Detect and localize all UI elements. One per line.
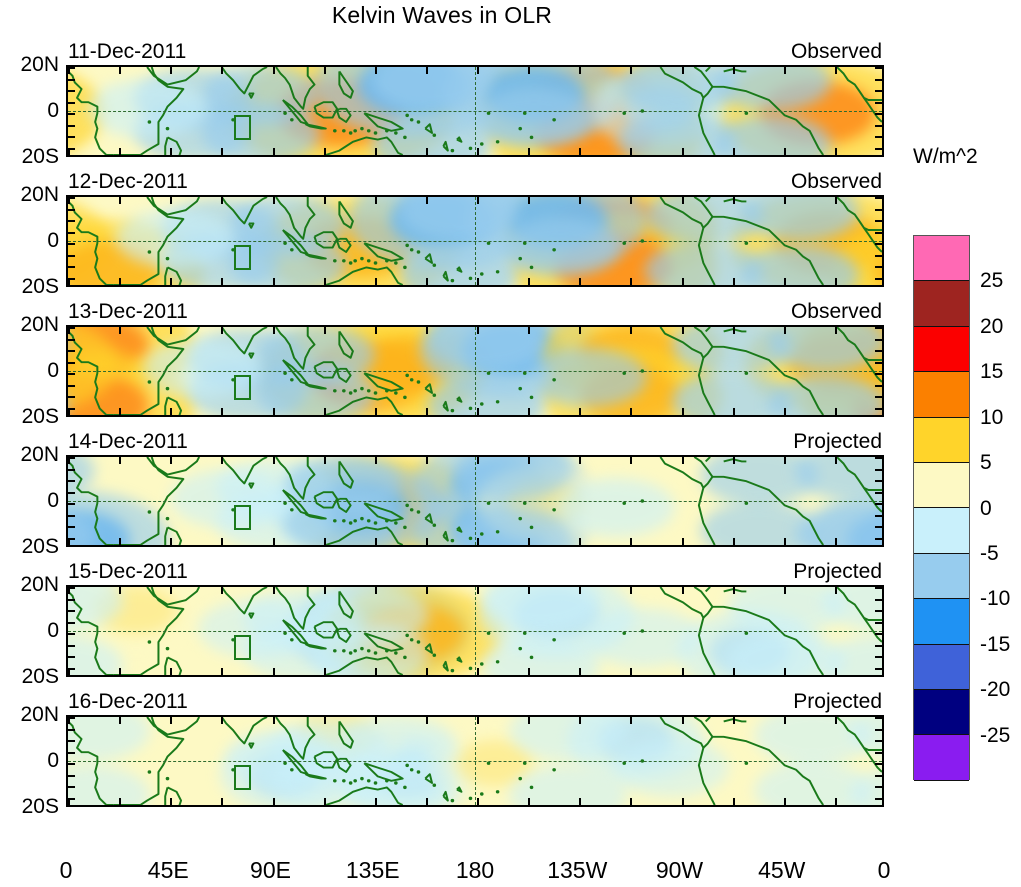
axis-tick [375,668,377,675]
axis-tick [324,148,326,155]
axis-tick [875,610,882,612]
axis-tick [875,102,882,104]
axis-tick [273,668,275,675]
axis-tick [528,327,530,334]
axis-tick [528,197,530,204]
axis-tick [477,327,479,334]
axis-tick [324,457,326,464]
y-axis-tick-label: 20S [22,275,59,299]
reference-box-marker [234,115,252,140]
axis-tick [375,278,377,285]
axis-tick [835,798,837,805]
axis-tick [682,587,684,594]
axis-tick [68,457,75,459]
axis-tick [221,457,223,464]
axis-tick [733,538,735,545]
axis-tick [119,278,121,285]
axis-tick [324,587,326,594]
x-axis-tick-label: 45W [758,857,805,884]
axis-tick [875,752,882,754]
axis-tick [221,148,223,155]
axis-tick [579,148,581,155]
axis-tick [324,278,326,285]
axis-tick [875,350,882,352]
axis-tick [221,668,223,675]
axis-tick [784,538,786,545]
dateline-marker [475,717,476,805]
axis-tick [221,408,223,415]
axis-tick [221,327,223,334]
axis-tick [875,385,882,387]
axis-tick [273,538,275,545]
y-axis-tick-label: 0 [47,489,59,513]
map-plot-area [66,65,884,157]
panel-status-label: Observed [791,300,882,324]
y-axis-tick-label: 20S [22,535,59,559]
axis-tick [170,197,172,204]
axis-tick [119,197,121,204]
axis-tick [477,668,479,675]
axis-tick [119,457,121,464]
axis-tick [875,232,882,234]
axis-tick [784,587,786,594]
axis-tick [426,668,428,675]
axis-tick [68,538,75,540]
axis-tick [875,645,882,647]
axis-tick [426,587,428,594]
axis-tick [170,408,172,415]
axis-tick [273,798,275,805]
axis-tick [68,255,75,257]
axis-tick [324,668,326,675]
axis-tick [682,67,684,74]
axis-tick [221,278,223,285]
axis-tick [875,457,882,459]
axis-tick [579,197,581,204]
axis-tick [875,113,882,115]
y-axis-tick-label: 20N [20,313,59,337]
colorbar-band [914,735,969,780]
axis-tick [630,408,632,415]
axis-tick [835,197,837,204]
axis-tick [68,599,75,601]
axis-tick [273,327,275,334]
axis-tick [68,752,75,754]
axis-tick [875,798,882,800]
axis-tick [477,67,479,74]
colorbar-units-label: W/m^2 [913,145,1021,169]
dateline-marker [475,587,476,675]
axis-tick [170,717,172,724]
axis-tick [68,408,75,410]
axis-tick [68,148,75,150]
axis-tick [68,327,75,329]
axis-tick [875,79,882,81]
axis-tick [682,327,684,334]
y-axis-tick-label: 0 [47,99,59,123]
axis-tick [68,729,75,731]
axis-tick [170,278,172,285]
axis-tick [875,255,882,257]
axis-tick [68,339,75,341]
axis-tick [528,148,530,155]
axis-tick [273,408,275,415]
axis-tick [119,148,121,155]
axis-tick [426,538,428,545]
axis-tick [68,67,75,69]
axis-tick [784,717,786,724]
axis-tick [733,457,735,464]
axis-tick [375,538,377,545]
axis-tick [375,717,377,724]
axis-tick [579,327,581,334]
axis-tick [221,197,223,204]
y-axis-tick-label: 20N [20,703,59,727]
x-axis-tick-label: 90E [250,857,291,884]
axis-tick [682,798,684,805]
colorbar-band [914,599,969,644]
axis-tick [875,243,882,245]
axis-tick [68,492,75,494]
axis-tick [221,67,223,74]
axis-tick [875,408,882,410]
axis-tick [426,457,428,464]
axis-tick [875,266,882,268]
axis-tick [68,362,75,364]
colorbar-tick-label: -20 [980,678,1010,702]
dateline-marker [475,457,476,545]
colorbar-tick-label: 10 [980,406,1003,430]
axis-tick [733,278,735,285]
axis-tick [528,457,530,464]
axis-tick [477,148,479,155]
axis-tick [375,197,377,204]
axis-tick [477,197,479,204]
axis-tick [426,798,428,805]
panel-status-label: Projected [793,560,882,584]
colorbar-tick-label: -15 [980,633,1010,657]
axis-tick [875,717,882,719]
axis-tick [528,408,530,415]
axis-tick [835,717,837,724]
panel-date-label: 12-Dec-2011 [68,170,188,194]
axis-tick [477,278,479,285]
axis-tick [875,587,882,589]
colorbar-band [914,554,969,599]
axis-tick [375,327,377,334]
axis-tick [835,457,837,464]
axis-tick [682,668,684,675]
axis-tick [875,729,882,731]
axis-tick [875,209,882,211]
axis-tick [835,67,837,74]
axis-tick [835,538,837,545]
colorbar-tick-label: 25 [980,269,1003,293]
axis-tick [875,480,882,482]
axis-tick [528,798,530,805]
axis-tick [579,668,581,675]
map-plot-area [66,715,884,807]
axis-tick [579,587,581,594]
axis-tick [875,136,882,138]
axis-tick [875,278,882,280]
y-axis-tick-label: 20N [20,443,59,467]
axis-tick [875,362,882,364]
axis-tick [579,278,581,285]
axis-tick [170,148,172,155]
axis-tick [784,408,786,415]
axis-tick [630,538,632,545]
axis-tick [119,798,121,805]
colorbar-tick-label: -5 [980,542,999,566]
colorbar-tick-label: -10 [980,587,1010,611]
x-axis-tick-label: 135E [346,857,400,884]
axis-tick [375,798,377,805]
axis-tick [875,633,882,635]
axis-tick [579,67,581,74]
axis-tick [630,587,632,594]
axis-tick [68,645,75,647]
map-panel: 11-Dec-2011Observed20N020S [66,65,884,157]
axis-tick [221,717,223,724]
axis-tick [426,408,428,415]
axis-tick [630,327,632,334]
axis-tick [68,278,75,280]
axis-tick [875,469,882,471]
axis-tick [682,538,684,545]
dateline-marker [475,197,476,285]
axis-tick [733,148,735,155]
axis-tick [784,668,786,675]
axis-tick [875,515,882,517]
axis-tick [630,148,632,155]
colorbar-band [914,508,969,553]
axis-tick [630,798,632,805]
axis-tick [68,220,75,222]
axis-tick [68,113,75,115]
map-plot-area [66,325,884,417]
axis-tick [170,668,172,675]
axis-tick [477,457,479,464]
panel-status-label: Projected [793,690,882,714]
axis-tick [170,327,172,334]
axis-tick [875,197,882,199]
colorbar-tick-label: 20 [980,315,1003,339]
axis-tick [119,587,121,594]
axis-tick [221,798,223,805]
axis-tick [579,798,581,805]
axis-tick [68,469,75,471]
x-axis-tick-label: 0 [878,857,891,884]
map-panel: 15-Dec-2011Projected20N020S [66,585,884,677]
colorbar-tick-label: -25 [980,724,1010,748]
colorbar-band [914,281,969,326]
axis-tick [68,656,75,658]
x-axis-tick-label: 180 [456,857,494,884]
axis-tick [579,457,581,464]
axis-tick [68,385,75,387]
axis-tick [835,148,837,155]
axis-tick [875,339,882,341]
axis-tick [875,763,882,765]
axis-tick [477,717,479,724]
map-plot-area [66,455,884,547]
axis-tick [68,396,75,398]
axis-tick [68,717,75,719]
map-plot-area [66,585,884,677]
axis-tick [682,197,684,204]
y-axis-tick-label: 20S [22,665,59,689]
axis-tick [221,538,223,545]
axis-tick [875,220,882,222]
colorbar: 2520151050-5-10-15-20-25 [913,235,970,780]
axis-tick [875,656,882,658]
y-axis-tick-label: 20S [22,405,59,429]
axis-tick [68,350,75,352]
axis-tick [68,232,75,234]
axis-tick [528,587,530,594]
axis-tick [68,622,75,624]
axis-tick [835,668,837,675]
axis-tick [477,538,479,545]
axis-tick [835,587,837,594]
axis-tick [682,717,684,724]
y-axis-tick-label: 0 [47,619,59,643]
axis-tick [170,457,172,464]
axis-tick [170,538,172,545]
axis-tick [835,278,837,285]
axis-tick [682,278,684,285]
axis-tick [528,538,530,545]
axis-tick [630,668,632,675]
axis-tick [784,457,786,464]
axis-tick [68,480,75,482]
axis-tick [682,408,684,415]
axis-tick [784,278,786,285]
axis-tick [273,67,275,74]
axis-tick [375,587,377,594]
x-axis-tick-label: 0 [60,857,73,884]
axis-tick [273,148,275,155]
axis-tick [630,67,632,74]
axis-tick [426,327,428,334]
axis-tick [835,408,837,415]
axis-tick [273,587,275,594]
colorbar-band [914,418,969,463]
axis-tick [426,278,428,285]
axis-tick [68,197,75,199]
axis-tick [273,278,275,285]
colorbar-band [914,463,969,508]
axis-tick [875,396,882,398]
axis-tick [733,717,735,724]
panel-status-label: Observed [791,170,882,194]
axis-tick [119,668,121,675]
y-axis-tick-label: 20S [22,145,59,169]
dateline-marker [475,67,476,155]
colorbar-band [914,645,969,690]
axis-tick [68,786,75,788]
axis-tick [68,587,75,589]
axis-tick [477,587,479,594]
axis-tick [875,90,882,92]
y-axis-tick-label: 20N [20,53,59,77]
axis-tick [324,67,326,74]
axis-tick [875,526,882,528]
x-axis-tick-label: 45E [148,857,189,884]
axis-tick [68,515,75,517]
axis-tick [68,610,75,612]
map-panel: 16-Dec-2011Projected20N020S [66,715,884,807]
colorbar-tick-label: 15 [980,360,1003,384]
axis-tick [273,457,275,464]
axis-tick [733,798,735,805]
axis-tick [324,197,326,204]
x-axis-tick-label: 90W [656,857,703,884]
axis-tick [875,668,882,670]
axis-tick [784,327,786,334]
axis-tick [273,197,275,204]
axis-tick [119,67,121,74]
axis-tick [68,266,75,268]
axis-tick [68,90,75,92]
axis-tick [875,740,882,742]
y-axis-tick-label: 0 [47,359,59,383]
figure-root: Kelvin Waves in OLR 11-Dec-2011Observed2… [0,0,1021,887]
axis-tick [170,798,172,805]
axis-tick [170,67,172,74]
axis-tick [68,136,75,138]
colorbar-tick-label: 0 [980,497,992,521]
axis-tick [733,67,735,74]
axis-tick [426,717,428,724]
axis-tick [375,408,377,415]
axis-tick [784,148,786,155]
axis-tick [733,197,735,204]
axis-tick [324,327,326,334]
axis-tick [68,209,75,211]
reference-box-marker [234,765,252,790]
reference-box-marker [234,375,252,400]
axis-tick [68,102,75,104]
axis-tick [682,457,684,464]
panel-date-label: 15-Dec-2011 [68,560,188,584]
axis-tick [68,526,75,528]
axis-tick [875,492,882,494]
axis-tick [221,587,223,594]
dateline-marker [475,327,476,415]
reference-box-marker [234,635,252,660]
axis-tick [68,798,75,800]
axis-tick [68,503,75,505]
panel-date-label: 14-Dec-2011 [68,430,188,454]
axis-tick [784,67,786,74]
axis-tick [875,327,882,329]
map-panel: 13-Dec-2011Observed20N020S [66,325,884,417]
axis-tick [426,148,428,155]
axis-tick [784,197,786,204]
axis-tick [875,148,882,150]
axis-tick [733,668,735,675]
axis-tick [875,373,882,375]
axis-tick [324,408,326,415]
colorbar-band [914,236,969,281]
axis-tick [324,538,326,545]
axis-tick [733,587,735,594]
axis-tick [68,763,75,765]
axis-tick [835,327,837,334]
axis-tick [875,67,882,69]
